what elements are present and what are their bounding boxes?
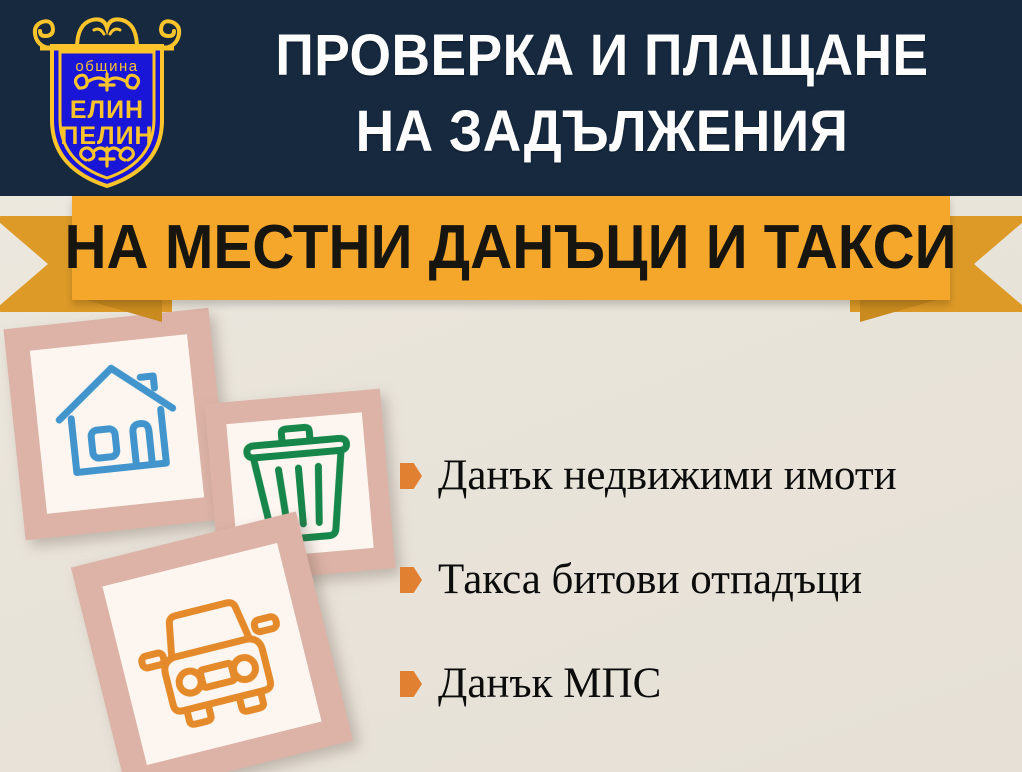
list-item[interactable]: Данък недвижими имоти <box>400 424 1010 528</box>
crest-name-line-2: ПЕЛИН <box>60 122 153 150</box>
crest-top-flourish-detail-l <box>94 29 104 34</box>
page-title: ПРОВЕРКА И ПЛАЩАНЕ НА ЗАДЪЛЖЕНИЯ <box>225 18 979 170</box>
ribbon-label: НА МЕСТНИ ДАНЪЦИ И ТАКСИ <box>65 217 957 279</box>
stamp-paper <box>30 334 204 514</box>
list-item-label: Данък МПС <box>438 660 661 708</box>
tax-type-list: Данък недвижими имоти Такса битови отпад… <box>400 424 1010 736</box>
ribbon-banner: НА МЕСТНИ ДАНЪЦИ И ТАКСИ <box>72 196 950 300</box>
list-item[interactable]: Такса битови отпадъци <box>400 528 1010 632</box>
page-title-line-1: ПРОВЕРКА И ПЛАЩАНЕ <box>275 23 928 88</box>
arrow-bullet-icon <box>400 567 422 593</box>
stamp-cards-group <box>0 300 430 772</box>
scroll-curl-right <box>161 21 179 48</box>
arrow-bullet-icon <box>400 671 422 697</box>
arrow-bullet-icon <box>400 463 422 489</box>
list-item-label: Такса битови отпадъци <box>438 556 862 604</box>
page-title-line-2: НА ЗАДЪЛЖЕНИЯ <box>225 94 979 170</box>
crest-top-flourish <box>77 19 137 48</box>
list-item-label: Данък недвижими имоти <box>438 452 897 500</box>
crest-svg: община ЕЛИН ПЕЛИН <box>22 8 192 192</box>
poster-root: община ЕЛИН ПЕЛИН ПР <box>0 0 1022 772</box>
crest-top-flourish-detail-r <box>110 29 120 34</box>
scroll-curl-left <box>35 21 53 48</box>
stamp-card-property <box>3 308 230 540</box>
subtitle-ribbon: НА МЕСТНИ ДАНЪЦИ И ТАКСИ <box>0 196 1022 312</box>
municipality-crest-logo: община ЕЛИН ПЕЛИН <box>22 8 192 192</box>
list-item[interactable]: Данък МПС <box>400 632 1010 736</box>
stamp-house-svg <box>3 308 230 540</box>
crest-name-line-1: ЕЛИН <box>70 96 144 124</box>
